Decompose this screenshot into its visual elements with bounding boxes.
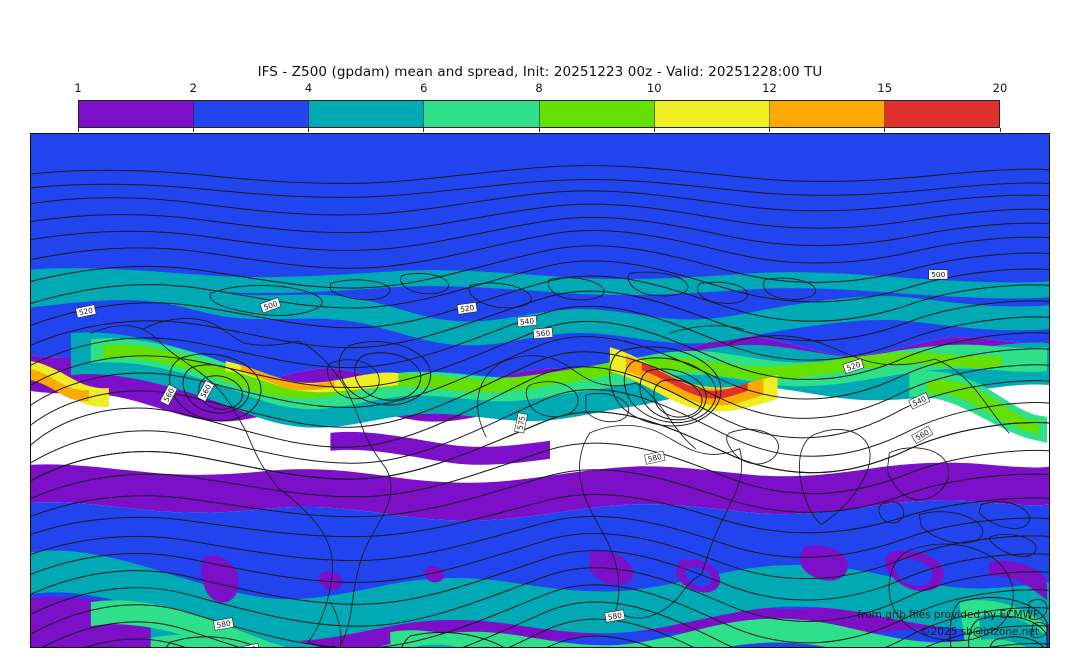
colorbar: 1246810121520 [78,100,1000,128]
colorbar-swatches [78,100,1000,128]
colorbar-tick-mark-15 [884,128,885,132]
colorbar-tick-mark-1 [78,128,79,132]
colorbar-swatch-band-12-15 [770,101,885,127]
colorbar-tick-label-6: 6 [420,81,427,95]
contour-label: 540 [517,316,537,327]
colorbar-tick-label-2: 2 [190,81,197,95]
contour-label-text: 500 [931,270,945,279]
map-plot-area: 5205005605605205405605755805005205405605… [30,133,1050,648]
contour-label: 500 [929,270,948,279]
colorbar-tick-mark-12 [769,128,770,132]
colorbar-tick-label-4: 4 [305,81,312,95]
watermark-source: from grib files provided by ECMWF [857,609,1039,621]
colorbar-swatch-band-4-6 [309,101,424,127]
chart-page: IFS - Z500 (gpdam) mean and spread, Init… [0,0,1080,658]
colorbar-tick-label-15: 15 [877,81,892,95]
colorbar-tick-labels: 1246810121520 [78,81,1000,97]
map-svg: 5205005605605205405605755805005205405605… [31,134,1049,647]
colorbar-tick-label-20: 20 [993,81,1008,95]
colorbar-swatch-band-1-2 [79,101,194,127]
colorbar-tick-mark-8 [539,128,540,132]
colorbar-tick-mark-10 [654,128,655,132]
colorbar-tick-label-10: 10 [647,81,662,95]
contour-label-text: 540 [520,316,535,326]
colorbar-tick-mark-2 [193,128,194,132]
colorbar-tick-label-12: 12 [762,81,777,95]
colorbar-swatch-band-2-4 [194,101,309,127]
colorbar-tick-label-1: 1 [74,81,81,95]
colorbar-tick-label-8: 8 [535,81,542,95]
colorbar-swatch-band-6-8 [424,101,539,127]
colorbar-tick-mark-6 [423,128,424,132]
contour-label: 560 [533,328,553,339]
watermark-copyright: ©2025 sb@irizone.net [920,626,1039,638]
colorbar-swatch-band-15-20 [885,101,999,127]
colorbar-tick-mark-20 [1000,128,1001,132]
colorbar-tick-mark-4 [308,128,309,132]
colorbar-swatch-band-8-10 [540,101,655,127]
contour-label-text: 560 [536,328,551,338]
chart-title: IFS - Z500 (gpdam) mean and spread, Init… [0,64,1080,80]
colorbar-swatch-band-10-12 [655,101,770,127]
